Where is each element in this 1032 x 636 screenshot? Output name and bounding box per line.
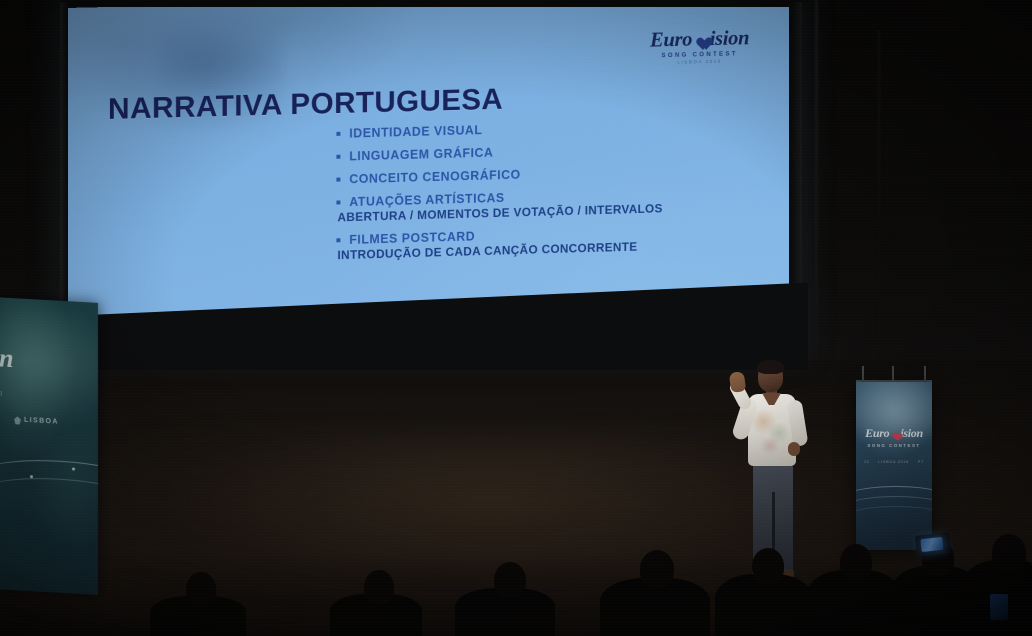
audience-phone-screen-secondary [990, 594, 1008, 620]
audience-silhouette [640, 550, 674, 588]
heart-icon [693, 30, 709, 45]
bullet-label: IDENTIDADE VISUAL [349, 123, 482, 140]
banner-right-arm [862, 366, 864, 382]
bullet-square-icon [336, 178, 340, 182]
bullet-square-icon [336, 200, 340, 204]
audience-silhouette [186, 572, 216, 606]
bullet-item-2: LINGUAGEM GRÁFICA [336, 139, 758, 164]
bullet-label: LINGUAGEM GRÁFICA [349, 146, 493, 164]
banner-right-arm [924, 366, 926, 382]
banner-left-route-dot [30, 475, 33, 478]
audience-silhouette [840, 544, 872, 580]
rollup-banner-right: Euro ision SONG CONTEST 12 LISBOA 2018 P… [856, 382, 932, 550]
slide-surface: NARRATIVA PORTUGUESA IDENTIDADE VISUAL L… [66, 2, 789, 338]
banner-right-meta-left: 12 [864, 460, 870, 464]
banner-right-text-right: ision [900, 426, 923, 441]
audience-silhouette [992, 534, 1026, 572]
bullet-item-3: CONCEITO CENOGRÁFICO [336, 161, 758, 186]
audience-row [0, 540, 1032, 636]
banner-right-wordmark: Euro ision [856, 426, 932, 441]
banner-left-wordmark: sion [0, 342, 13, 374]
bullet-label: CONCEITO CENOGRÁFICO [349, 168, 520, 187]
presentation-scene: NARRATIVA PORTUGUESA IDENTIDADE VISUAL L… [0, 0, 1032, 636]
screen-bezel-left [60, 2, 68, 334]
presenter-raised-hand [729, 371, 747, 393]
audience-phone-screen [920, 537, 943, 552]
banner-right-wave-3 [856, 506, 932, 531]
bullet-square-icon [336, 132, 340, 136]
screen-bezel-top [60, 0, 802, 7]
banner-right-logo: Euro ision SONG CONTEST [856, 426, 932, 448]
presenter-hand-right [788, 442, 800, 456]
banner-right-meta-right: PT [918, 460, 924, 464]
audience-silhouette [364, 570, 394, 604]
banner-left-wave-2 [0, 475, 98, 514]
wall-seam [815, 0, 818, 372]
audience-silhouette [752, 548, 784, 584]
banner-left-mist [0, 306, 98, 434]
list-item: FILMES POSTCARD INTRODUÇÃO DE CADA CANÇÃ… [336, 221, 758, 262]
banner-right-arm [892, 366, 894, 380]
bullet-square-icon [336, 155, 340, 159]
heart-icon [890, 429, 899, 437]
audience-silhouette [494, 562, 526, 598]
banner-left-route-dot [72, 467, 75, 470]
eurovision-wordmark: Euro ision [631, 27, 767, 51]
banner-right-meta: 12 LISBOA 2018 PT [864, 460, 924, 464]
wall-seam-secondary [878, 30, 880, 360]
banner-right-text-left: Euro [865, 426, 889, 441]
banner-left-subtitle-year: 2018 [0, 391, 4, 398]
banner-right-meta-center: LISBOA 2018 [878, 460, 909, 464]
presenter-hair [757, 360, 784, 374]
list-item: CONCEITO CENOGRÁFICO [336, 161, 758, 186]
slide-bullet-list: IDENTIDADE VISUAL LINGUAGEM GRÁFICA CONC… [336, 116, 758, 271]
screen-bezel-right [792, 2, 802, 302]
logo-text-left: Euro [650, 29, 692, 51]
eurovision-logo: Euro ision SONG CONTEST LISBOA 2018 [631, 27, 767, 67]
bullet-square-icon [336, 238, 340, 242]
list-item: LINGUAGEM GRÁFICA [336, 139, 758, 164]
banner-right-subtitle: SONG CONTEST [856, 443, 932, 448]
list-item: ATUAÇÕES ARTÍSTICAS ABERTURA / MOMENTOS … [336, 184, 758, 224]
logo-text-right: ision [710, 27, 749, 49]
